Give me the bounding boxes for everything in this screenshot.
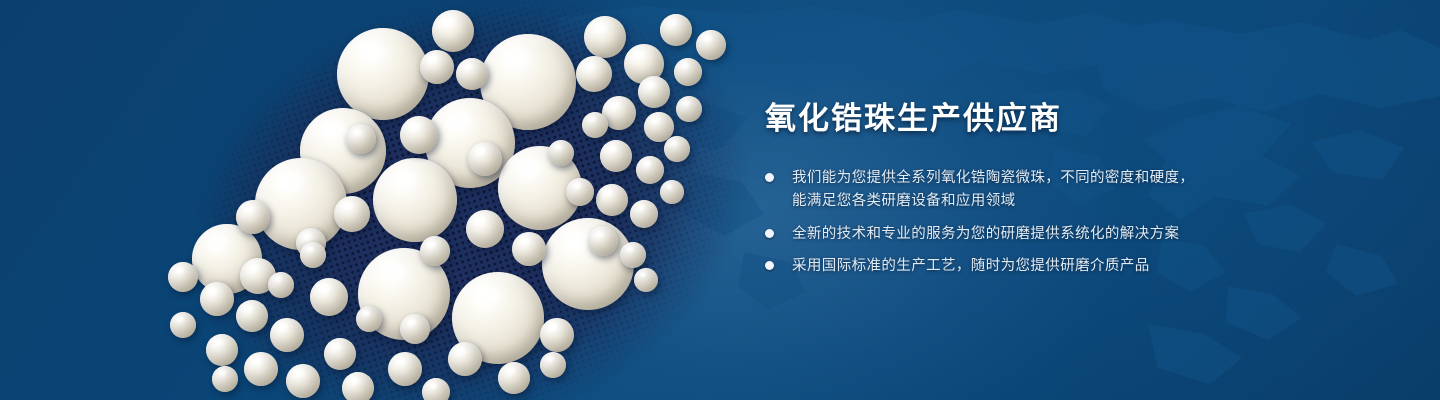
list-item-label: 采用国际标准的生产工艺，随时为您提供研磨介质产品	[792, 258, 1150, 274]
list-item: 我们能为您提供全系列氧化锆陶瓷微珠，不同的密度和硬度，能满足您各类研磨设备和应用…	[765, 167, 1285, 214]
list-item: 全新的技术和专业的服务为您的研磨提供系统化的解决方案	[765, 223, 1285, 246]
bullet-dot-icon	[765, 229, 774, 238]
list-item: 采用国际标准的生产工艺，随时为您提供研磨介质产品	[765, 255, 1285, 278]
feature-list: 我们能为您提供全系列氧化锆陶瓷微珠，不同的密度和硬度，能满足您各类研磨设备和应用…	[765, 167, 1285, 279]
zirconia-beads-photo	[0, 0, 760, 400]
hero-banner: 氧化锆珠生产供应商 我们能为您提供全系列氧化锆陶瓷微珠，不同的密度和硬度，能满足…	[0, 0, 1440, 400]
bullet-dot-icon	[765, 261, 774, 270]
bullet-dot-icon	[765, 173, 774, 182]
list-item-label: 全新的技术和专业的服务为您的研磨提供系统化的解决方案	[792, 226, 1179, 242]
list-item-label: 我们能为您提供全系列氧化锆陶瓷微珠，不同的密度和硬度，能满足您各类研磨设备和应用…	[792, 170, 1285, 214]
banner-copy: 氧化锆珠生产供应商 我们能为您提供全系列氧化锆陶瓷微珠，不同的密度和硬度，能满足…	[765, 100, 1285, 288]
page-title: 氧化锆珠生产供应商	[765, 100, 1285, 139]
